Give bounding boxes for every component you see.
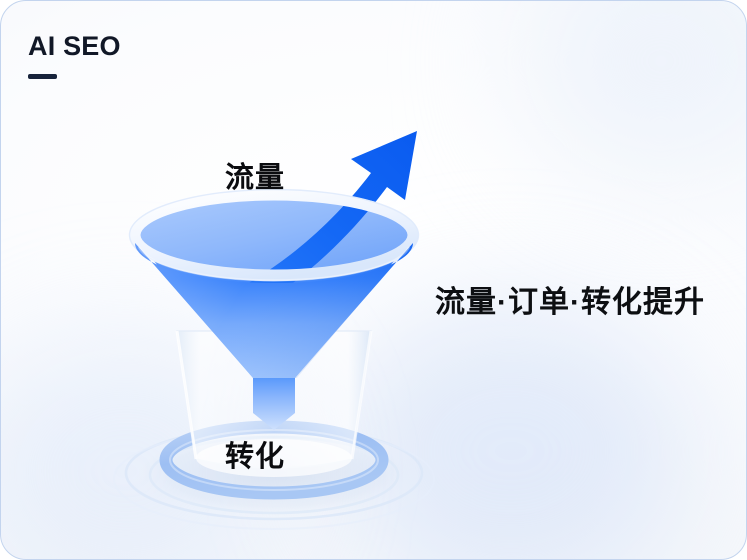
ambient-glow-top-right xyxy=(521,0,747,181)
label-conversion: 转化 xyxy=(225,433,285,475)
title-block: AI SEO xyxy=(28,33,121,79)
tagline-text: 流量·订单·转化提升 xyxy=(435,277,705,321)
page-title: AI SEO xyxy=(28,33,121,60)
label-traffic: 流量 xyxy=(225,154,285,196)
slide-canvas: AI SEO 流量·订单·转化提升 xyxy=(0,0,747,560)
title-underline-rule xyxy=(28,74,57,79)
